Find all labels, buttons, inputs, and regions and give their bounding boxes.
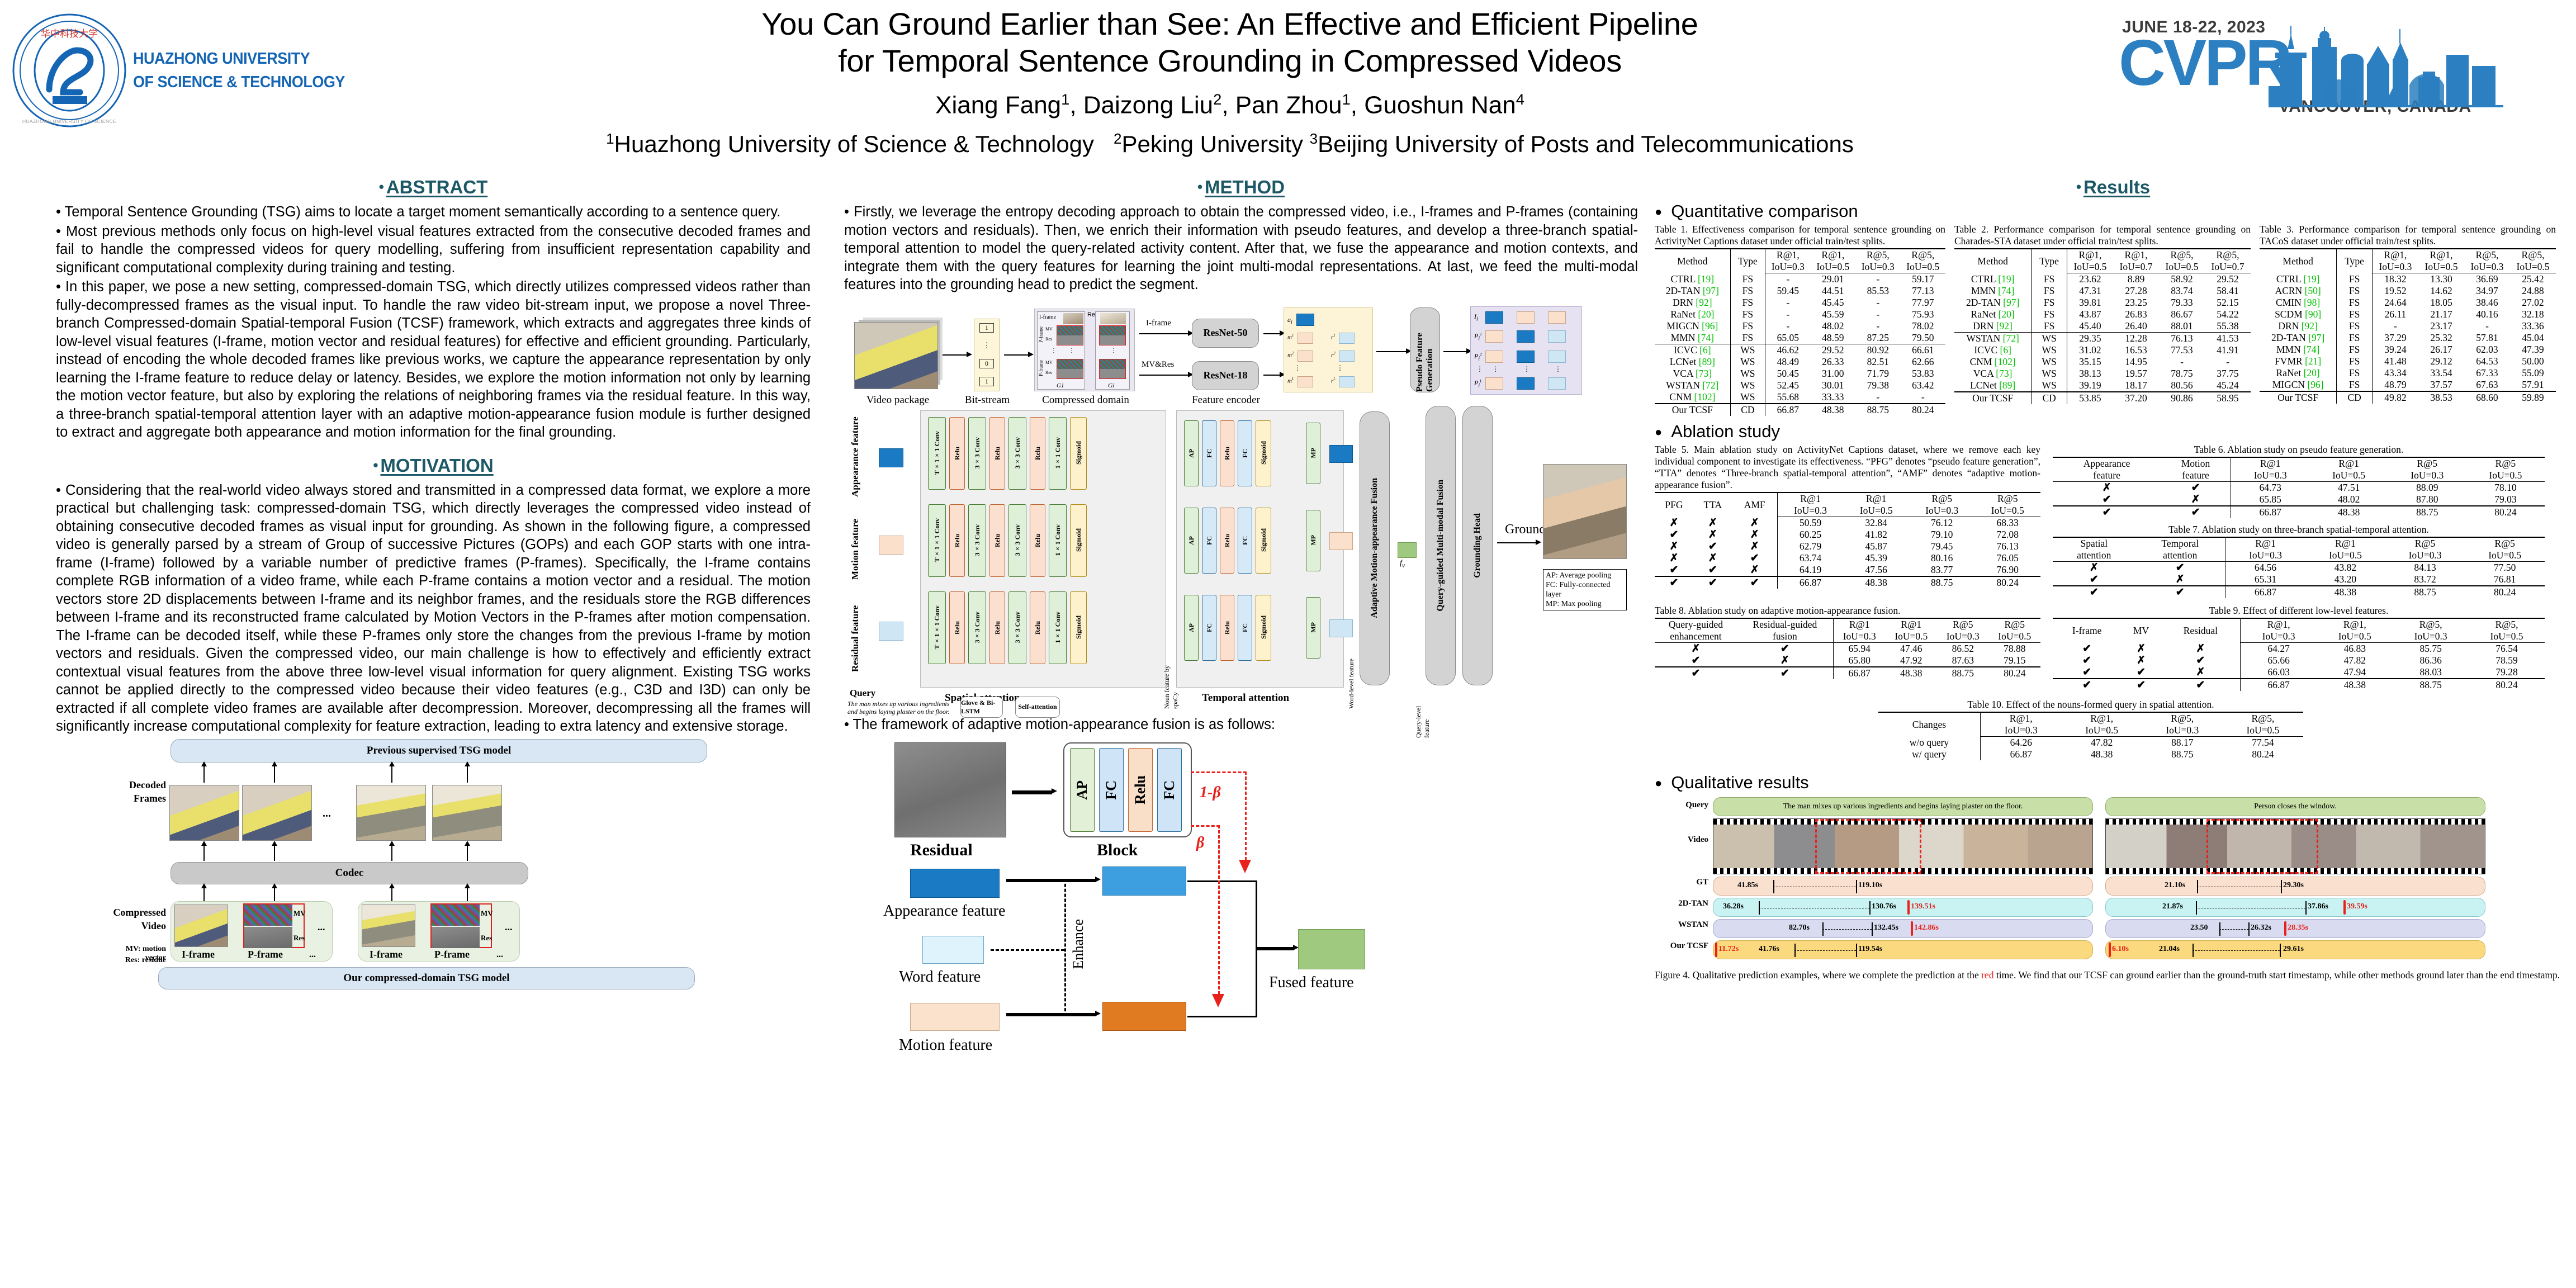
self-attention-box: Self-attention bbox=[1015, 697, 1060, 718]
cell-value: 38.53 bbox=[2418, 391, 2464, 404]
q2-wstan-red-time: 28.35s bbox=[2288, 924, 2308, 932]
cell-value: 59.17 bbox=[1901, 273, 1945, 286]
spatial-op-t-1-1-conv: T×1×1 Conv bbox=[928, 591, 946, 664]
table-subheader-row: enhancement fusion IoU=0.3 IoU=0.5 IoU=0… bbox=[1655, 631, 2040, 643]
table-row: ACRN [50]FS19.5214.6234.9724.88 bbox=[2260, 285, 2556, 297]
spatial-op-relu: Relu bbox=[989, 417, 1005, 490]
q1-tcsf-red-time: 11.72s bbox=[1718, 945, 1739, 954]
cell-value: 80.24 bbox=[2465, 586, 2545, 598]
table-row: CTRL [19]FS23.628.8958.9229.52 bbox=[1954, 273, 2251, 286]
cell-type: FS bbox=[2337, 332, 2373, 344]
cell-value: 62.03 bbox=[2464, 344, 2510, 356]
cell-value: 65.80 bbox=[1833, 655, 1885, 667]
op-label: Relu bbox=[993, 621, 1002, 634]
arrow-right bbox=[1012, 790, 1052, 794]
th-iou-3: IoU=0.3 bbox=[2142, 724, 2223, 737]
table-3-wrap: Table 3. Performance comparison for temp… bbox=[2260, 224, 2556, 404]
table-row: MIGCN [96]FS48.7937.5767.6357.91 bbox=[2260, 379, 2556, 391]
cell-type: WS bbox=[1730, 356, 1765, 368]
cell-value: 8.89 bbox=[2113, 273, 2159, 286]
fig-arrow-up bbox=[203, 888, 205, 901]
spatial-op-relu: Relu bbox=[949, 504, 965, 577]
q1-tcsf-tick-end bbox=[1856, 944, 1857, 957]
op-label: AP bbox=[1187, 449, 1196, 458]
grounding-head-label: Grounding Head bbox=[1472, 513, 1483, 578]
legend-box: AP: Average pooling FC: Fully-connected … bbox=[1543, 569, 1627, 610]
temporal-op-fc: FC bbox=[1202, 508, 1216, 574]
cell-method: 2D-TAN [97] bbox=[2260, 332, 2337, 344]
query-guided-fusion-label: Query-guided Multi-modal Fusion bbox=[1436, 480, 1446, 612]
table-row: CTRL [19]FS18.3213.3036.6925.42 bbox=[2260, 273, 2556, 286]
method-paragraph-2: • The framework of adaptive motion-appea… bbox=[844, 716, 1638, 734]
author-list: Xiang Fang1, Daizong Liu2, Pan Zhou1, Gu… bbox=[358, 83, 2102, 122]
table-2: Method Type R@1, R@1, R@5, R@5, IoU=0.5 … bbox=[1954, 248, 2251, 404]
arrow-right bbox=[1257, 947, 1294, 950]
check-mark-icon: ✔ bbox=[2053, 506, 2161, 518]
table-9-caption: Table 9. Effect of different low-level f… bbox=[2053, 605, 2545, 617]
cell-value: 46.83 bbox=[2317, 643, 2393, 655]
cell-value: 88.01 bbox=[2159, 320, 2205, 333]
cell-value: 79.03 bbox=[2466, 494, 2545, 506]
cell-value: 77.54 bbox=[2223, 737, 2303, 749]
cell-value: 36.69 bbox=[2464, 273, 2510, 286]
cell-type: FS bbox=[1730, 332, 1765, 344]
vertical-ellipsis: ⋮ bbox=[1555, 365, 1561, 373]
q-row-label-video: Video bbox=[1655, 835, 1708, 845]
cell-value: 57.91 bbox=[2510, 379, 2556, 391]
cell-value: 78.88 bbox=[1989, 643, 2041, 655]
cell-value: - bbox=[2372, 320, 2418, 332]
ablation-study-heading: Ablation study bbox=[1655, 422, 2572, 442]
temporal-op-mp: MP bbox=[1306, 423, 1320, 484]
th-type: Type bbox=[1730, 249, 1765, 273]
cell-value: 33.33 bbox=[1811, 391, 1855, 404]
rL-label: rL bbox=[1331, 377, 1336, 385]
q-row-label-query: Query bbox=[1655, 801, 1708, 810]
op-label: Relu bbox=[993, 447, 1002, 460]
table-6-caption: Table 6. Ablation study on pseudo featur… bbox=[2053, 444, 2545, 456]
appearance-input-cube bbox=[879, 448, 903, 467]
table-3-caption: Table 3. Performance comparison for temp… bbox=[2260, 224, 2556, 247]
th-iou-3: IoU=0.3 bbox=[2388, 470, 2466, 482]
cell-value: 76.13 bbox=[1974, 541, 2040, 552]
table-row: ✗✔✗62.7945.8779.4576.13 bbox=[1655, 541, 2040, 552]
th-residual-guided: Residual-guided bbox=[1737, 618, 1834, 631]
cell-value: 47.56 bbox=[1844, 564, 1909, 576]
table-10-caption: Table 10. Effect of the nouns-formed que… bbox=[1878, 699, 2303, 711]
cell-value: 37.20 bbox=[2113, 392, 2159, 404]
appearance-cube bbox=[1296, 314, 1314, 326]
fig-res-thumb bbox=[244, 927, 292, 948]
temporal-op-fc: FC bbox=[1238, 595, 1252, 661]
cvpr-logo: JUNE 18-22, 2023 CVPR VANCOUVER, CANADA bbox=[2118, 15, 2565, 126]
table-row: ✔✗✗60.2541.8279.1072.08 bbox=[1655, 529, 2040, 541]
cross-mark-icon: ✗ bbox=[1732, 564, 1777, 576]
check-mark-icon: ✔ bbox=[1655, 655, 1737, 667]
fig-iframe-thumb bbox=[362, 905, 415, 947]
cell-method: FVMR [21] bbox=[2260, 356, 2337, 367]
cell-value: 24.64 bbox=[2372, 297, 2418, 309]
column-right: •Results Quantitative comparison Table 1… bbox=[1655, 177, 2572, 982]
check-mark-icon: ✔ bbox=[1732, 576, 1777, 589]
appearance-feature-label: Appearance feature bbox=[883, 902, 1005, 920]
column-middle: •METHOD • Firstly, we leverage the entro… bbox=[844, 177, 1638, 1092]
table-header-row: Method Type R@1, R@1, R@5, R@5, bbox=[1954, 249, 2251, 261]
cross-mark-icon: ✗ bbox=[1737, 655, 1834, 667]
cell-method: SCDM [90] bbox=[2260, 309, 2337, 320]
cross-mark-icon: ✗ bbox=[1655, 552, 1693, 564]
cell-value: 47.51 bbox=[2310, 482, 2388, 494]
pframe-label: P-frame bbox=[1038, 326, 1044, 343]
cell-value: 26.17 bbox=[2418, 344, 2464, 356]
q2-video-strip bbox=[2105, 818, 2485, 874]
table-row: ✔✔66.8748.3888.7580.24 bbox=[1655, 667, 2040, 679]
check-mark-icon: ✔ bbox=[1737, 667, 1834, 679]
cell-value: 87.25 bbox=[1855, 332, 1900, 344]
fig-arrow-up bbox=[467, 845, 468, 861]
residual-feature-label: Residual feature bbox=[850, 599, 861, 678]
fig-arrow-up bbox=[467, 766, 468, 783]
table-row: WSTAN [72]WS29.3512.2876.1341.53 bbox=[1954, 333, 2251, 345]
th-iou-3: IoU=0.3 bbox=[2385, 550, 2465, 562]
fig-ellipsis: ... bbox=[323, 807, 331, 820]
table-row: RaNet [20]FS43.3433.5467.3355.09 bbox=[2260, 367, 2556, 379]
th-r1-b: R@1 bbox=[2310, 457, 2388, 470]
cross-mark-icon: ✗ bbox=[1732, 517, 1777, 529]
table-9-wrap: Table 9. Effect of different low-level f… bbox=[2053, 605, 2545, 691]
mv-thumb bbox=[1100, 326, 1125, 335]
adaptive-motion-appearance-fusion-box: Adaptive Motion-appearance Fusion bbox=[1360, 411, 1390, 685]
cell-method: ICVC [6] bbox=[1655, 344, 1730, 357]
op-label: FC bbox=[1205, 623, 1214, 632]
op-label: Relu bbox=[1223, 534, 1232, 547]
legend-mp: MP: Max pooling bbox=[1546, 599, 1624, 609]
th-r5-b: R@5 bbox=[2466, 457, 2545, 470]
table-row: ✗✗✔63.7445.3980.1676.05 bbox=[1655, 552, 2040, 564]
th-iou-2: IoU=0.5 bbox=[2310, 470, 2388, 482]
cell-value: 29.52 bbox=[1811, 344, 1855, 357]
cell-value: 78.75 bbox=[2159, 368, 2205, 380]
th-iou-2: IoU=0.5 bbox=[2418, 261, 2464, 273]
fig-decoded-frame-thumb bbox=[242, 785, 312, 841]
th-r5-a: R@5, bbox=[2393, 618, 2469, 631]
citation-ref: [90] bbox=[2305, 309, 2321, 320]
cell-value: 67.33 bbox=[2464, 367, 2510, 379]
citation-ref: [20] bbox=[1698, 309, 1714, 320]
cell-value: 50.45 bbox=[1765, 368, 1811, 380]
th-r5-a: R@5 bbox=[1937, 618, 1988, 631]
cell-value: 48.02 bbox=[2310, 494, 2388, 506]
fig-iframe-label: I-frame bbox=[182, 949, 215, 960]
iframe-thumb bbox=[1063, 313, 1083, 324]
cell-type: FS bbox=[2337, 379, 2373, 391]
table-row: ✔✔✔66.8748.3888.7580.24 bbox=[1655, 576, 2040, 589]
cell-value: 45.39 bbox=[1844, 552, 1909, 564]
op-label: Relu bbox=[1034, 534, 1042, 547]
fv-cube bbox=[1398, 542, 1417, 558]
check-mark-icon: ✔ bbox=[1732, 552, 1777, 564]
cell-method: ICVC [6] bbox=[1954, 344, 2032, 356]
cell-value: 75.93 bbox=[1901, 309, 1945, 320]
cell-value: 40.16 bbox=[2464, 309, 2510, 320]
op-label: 3×3 Conv bbox=[973, 437, 982, 468]
th-method: Method bbox=[1655, 249, 1730, 273]
arrow-right bbox=[1497, 542, 1536, 543]
th-temporal: Temporal bbox=[2135, 537, 2225, 550]
check-mark-icon: ✔ bbox=[2161, 506, 2231, 518]
th-iou-3: IoU=0.3 bbox=[2393, 631, 2469, 643]
th-r5-b: R@5, bbox=[1901, 249, 1945, 261]
gop-1: I-frame P-frame MV Res ⋮ ⋮ P-frame MV Re… bbox=[1037, 311, 1085, 390]
q2-gt-line bbox=[2197, 887, 2281, 887]
cell-value: 62.66 bbox=[1901, 356, 1945, 368]
q2-gt-end: 29.30s bbox=[2283, 881, 2304, 890]
cell-value: 78.10 bbox=[2466, 482, 2545, 494]
th-r5-a: R@5 bbox=[2385, 537, 2465, 550]
cell-value: - bbox=[1765, 309, 1811, 320]
glove-bilstm-box: Glove & Bi-LSTM bbox=[960, 697, 1003, 718]
cell-value: 66.87 bbox=[1980, 749, 2061, 760]
q2-2dtan-red-tick bbox=[2343, 900, 2346, 915]
cell-value: 86.36 bbox=[2393, 655, 2469, 666]
table-row: ✗✔64.7347.5188.0978.10 bbox=[2053, 482, 2545, 494]
iframe-thumb bbox=[1100, 313, 1126, 324]
cell-value: - bbox=[1855, 297, 1900, 309]
cell-value: 88.75 bbox=[2393, 679, 2469, 691]
fig-pframe-box: MV Res bbox=[430, 903, 492, 948]
svg-text:HUAZHONG UNIVERSITY OF SCIENCE: HUAZHONG UNIVERSITY OF SCIENCE bbox=[22, 119, 116, 124]
arrow-right bbox=[1376, 351, 1407, 352]
cell-value: 88.75 bbox=[1937, 667, 1988, 679]
q1-tcsf-start: 41.76s bbox=[1759, 945, 1779, 954]
cell-value: 48.49 bbox=[1765, 356, 1811, 368]
motion-cube bbox=[1548, 311, 1566, 324]
citation-ref: [89] bbox=[1699, 356, 1715, 367]
table-row: ✗✔65.9447.4686.5278.88 bbox=[1655, 643, 2040, 655]
cell-value: 50.00 bbox=[2510, 356, 2556, 367]
residual-cube bbox=[1339, 376, 1355, 387]
table-1-body: CTRL [19]FS-29.01-59.172D-TAN [97]FS59.4… bbox=[1655, 273, 1945, 416]
spatial-op-relu: Relu bbox=[1030, 504, 1045, 577]
cell-value: 88.75 bbox=[1909, 576, 1974, 589]
table-row: LCNet [89]WS48.4926.3382.5162.66 bbox=[1655, 356, 1945, 368]
cell-method: RaNet [20] bbox=[1655, 309, 1730, 320]
cell-value: 55.38 bbox=[2205, 320, 2251, 333]
ellipsis: ⋮ bbox=[983, 341, 991, 350]
q2-gt-tick-start bbox=[2197, 880, 2198, 893]
arrow-right bbox=[1139, 375, 1188, 376]
q2-wstan-line bbox=[2219, 929, 2248, 930]
th-iou-2: IoU=0.5 bbox=[1811, 261, 1855, 273]
th-r5-a: R@5, bbox=[2142, 712, 2223, 724]
q1-2dtan-tick-end bbox=[1869, 901, 1871, 915]
table-row: Our TCSFCD66.8748.3888.7580.24 bbox=[1655, 404, 1945, 416]
table-row: ✔✗65.8548.0287.8079.03 bbox=[2053, 494, 2545, 506]
residual-cube bbox=[1548, 377, 1566, 390]
cell-value: 76.05 bbox=[1974, 552, 2040, 564]
fig-decoded-frame-thumb bbox=[169, 785, 239, 841]
op-label: 3×3 Conv bbox=[973, 524, 982, 556]
q1-gt-start: 41.85s bbox=[1737, 881, 1758, 890]
cell-value: 45.40 bbox=[2067, 320, 2113, 333]
cell-value: 59.89 bbox=[2510, 391, 2556, 404]
grounding-result-thumb bbox=[1543, 464, 1627, 559]
cell-value: 78.59 bbox=[2469, 655, 2545, 666]
fig-res-label: Res bbox=[481, 934, 492, 943]
title-block: You Can Ground Earlier than See: An Effe… bbox=[358, 6, 2102, 159]
cell-value: 47.82 bbox=[2317, 655, 2393, 666]
fig-compressed-video-label2: Video bbox=[103, 920, 166, 932]
temporal-op-ap: AP bbox=[1184, 420, 1199, 486]
op-label: MP bbox=[1309, 622, 1318, 633]
cell-type: WS bbox=[2032, 356, 2067, 368]
temporal-attention-label: Temporal attention bbox=[1202, 692, 1289, 704]
th-attention-1: attention bbox=[2053, 550, 2135, 562]
beta-label: β bbox=[1196, 834, 1204, 852]
cell-method: VCA [73] bbox=[1954, 368, 2032, 380]
cell-value: 79.15 bbox=[1989, 655, 2041, 667]
citation-ref: [6] bbox=[2000, 344, 2011, 356]
motion-cube bbox=[1485, 330, 1503, 343]
cell-type: FS bbox=[2337, 309, 2373, 320]
figure-4-caption: Figure 4. Qualitative prediction example… bbox=[1655, 968, 2572, 982]
enhanced-motion-cube bbox=[1102, 1002, 1186, 1031]
table-header-row: Changes R@1, R@1, R@5, R@5, bbox=[1878, 712, 2303, 724]
cell-value: - bbox=[1765, 320, 1811, 332]
pseudo-feature-panel: Ii Pi1 Pi2 ⋮ ⋮ ⋮ ⋮ PiL bbox=[1470, 306, 1582, 395]
check-mark-icon: ✔ bbox=[1655, 667, 1737, 679]
feature-encoder-label: Feature encoder bbox=[1180, 394, 1272, 406]
th-iou-4: IoU=0.5 bbox=[2469, 631, 2545, 643]
cell-value: 64.73 bbox=[2231, 482, 2309, 494]
cell-value: 19.57 bbox=[2113, 368, 2159, 380]
cell-value: 87.80 bbox=[2388, 494, 2466, 506]
op-label: Relu bbox=[1034, 621, 1042, 634]
cell-value: 24.88 bbox=[2510, 285, 2556, 297]
th-iou-1: IoU=0.3 bbox=[1777, 505, 1843, 517]
cell-value: 66.87 bbox=[2240, 679, 2317, 691]
spatial-op-3-3-conv: 3×3 Conv bbox=[1008, 591, 1026, 664]
cell-value: 48.38 bbox=[1844, 576, 1909, 589]
q2-2dtan-end: 37.86s bbox=[2308, 902, 2328, 911]
block-ap-label: AP bbox=[1074, 780, 1091, 800]
beta-line-top bbox=[1191, 771, 1247, 773]
cell-value: 58.95 bbox=[2205, 392, 2251, 404]
iframe-label: I-frame bbox=[1039, 314, 1056, 320]
cell-value: 14.95 bbox=[2113, 356, 2159, 368]
cell-value: 65.05 bbox=[1765, 332, 1811, 344]
fig4-red-word: red bbox=[1981, 969, 1993, 981]
vertical-ellipsis: ⋮ bbox=[1337, 364, 1343, 372]
mL-label: mL bbox=[1287, 377, 1294, 385]
cell-value: 90.86 bbox=[2159, 392, 2205, 404]
cell-value: 37.75 bbox=[2205, 368, 2251, 380]
fig4-text-a: Figure 4. Qualitative prediction example… bbox=[1655, 969, 1981, 981]
cell-value: 71.79 bbox=[1855, 368, 1900, 380]
table-row: LCNet [89]WS39.1918.1780.5645.24 bbox=[1954, 380, 2251, 392]
citation-ref: [97] bbox=[2003, 297, 2019, 308]
op-label: Relu bbox=[1223, 447, 1232, 460]
q1-wstan-tick-end bbox=[1872, 922, 1873, 936]
spatial-op-3-3-conv: 3×3 Conv bbox=[968, 417, 986, 490]
bitstream-cell: 1 bbox=[979, 377, 994, 386]
cell-type: WS bbox=[2032, 368, 2067, 380]
fusion-block-box: AP FC Relu FC bbox=[1063, 742, 1192, 837]
q2-tcsf-red-time: 6.10s bbox=[2112, 945, 2129, 954]
abstract-heading: •ABSTRACT bbox=[56, 177, 811, 198]
cell-type: FS bbox=[2337, 285, 2373, 297]
q1-gt-bar bbox=[1713, 877, 2093, 896]
th-iou-4: IoU=0.5 bbox=[2223, 724, 2303, 737]
hust-seal-icon: 华中科技大学 HUAZHONG UNIVERSITY OF SCIENCE bbox=[10, 11, 129, 130]
op-label: T×1×1 Conv bbox=[933, 605, 941, 649]
spatial-op-1-1-conv: 1×1 Conv bbox=[1049, 504, 1067, 577]
cell-value: 32.18 bbox=[2510, 309, 2556, 320]
cell-value: 86.52 bbox=[1937, 643, 1988, 655]
cell-type: WS bbox=[2032, 380, 2067, 392]
check-mark-icon: ✔ bbox=[2053, 586, 2135, 598]
bullet-dot: • bbox=[2076, 178, 2081, 195]
op-label: Relu bbox=[953, 534, 962, 547]
th-iou-4: IoU=0.5 bbox=[1989, 631, 2041, 643]
op-label: 1×1 Conv bbox=[1054, 612, 1062, 643]
spatial-op-sigmoid: Sigmoid bbox=[1070, 417, 1087, 490]
cell-value: 77.53 bbox=[2159, 344, 2205, 356]
th-r5-b: R@5, bbox=[2510, 249, 2556, 261]
op-label: FC bbox=[1241, 449, 1249, 458]
cell-value: 58.92 bbox=[2159, 273, 2205, 286]
th-iou-4: IoU=0.5 bbox=[1901, 261, 1945, 273]
citation-ref: [96] bbox=[2307, 379, 2323, 390]
table-10-wrap: Table 10. Effect of the nouns-formed que… bbox=[1878, 699, 2303, 760]
table-header-row: I-frame MV Residual R@1, R@1, R@5, R@5, bbox=[2053, 618, 2545, 631]
cross-mark-icon: ✗ bbox=[1655, 517, 1693, 529]
cell-value: 41.82 bbox=[1844, 529, 1909, 541]
bullet-dot: • bbox=[373, 457, 378, 473]
q2-wstan-red-tick bbox=[2284, 921, 2286, 936]
fig-res-thumb bbox=[432, 927, 480, 948]
fig-arrow-up bbox=[467, 888, 468, 901]
table-row: ICVC [6]WS46.6229.5280.9266.61 bbox=[1655, 344, 1945, 357]
cell-value: 88.17 bbox=[2142, 737, 2223, 749]
th-iou-3: IoU=0.3 bbox=[1855, 261, 1900, 273]
cell-value: 34.97 bbox=[2464, 285, 2510, 297]
op-label: Sigmoid bbox=[1074, 528, 1083, 552]
cell-method: Our TCSF bbox=[1655, 404, 1730, 416]
table-header-row: Spatial Temporal R@1 R@1 R@5 R@5 bbox=[2053, 537, 2545, 550]
th-r1-b: R@1, bbox=[1811, 249, 1855, 261]
citation-ref: [72] bbox=[2003, 333, 2019, 344]
citation-ref: [72] bbox=[1702, 380, 1718, 391]
table-header-row: Method Type R@1, R@1, R@5, R@5, bbox=[1655, 249, 1945, 261]
bitstream-cell: 1 bbox=[979, 323, 994, 333]
th-type: Type bbox=[2337, 249, 2373, 273]
q1-tcsf-end: 119.54s bbox=[1858, 945, 1882, 954]
fv-label: fv bbox=[1400, 559, 1405, 569]
table-6: Appearance Motion R@1 R@1 R@5 R@5 featur… bbox=[2053, 457, 2545, 518]
motion-feature-label: Motion feature bbox=[899, 1036, 992, 1054]
cell-value: 86.67 bbox=[2159, 309, 2205, 320]
cell-value: 43.87 bbox=[2067, 309, 2113, 320]
table-8: Query-guided Residual-guided R@1 R@1 R@5… bbox=[1655, 618, 2040, 679]
table-9: I-frame MV Residual R@1, R@1, R@5, R@5, … bbox=[2053, 618, 2545, 691]
table-header-row: Appearance Motion R@1 R@1 R@5 R@5 bbox=[2053, 457, 2545, 470]
cell-value: 80.24 bbox=[2469, 679, 2545, 691]
th-type: Type bbox=[2032, 249, 2067, 273]
th-iou-4: IoU=0.7 bbox=[2205, 261, 2251, 273]
th-iou-3: IoU=0.3 bbox=[2464, 261, 2510, 273]
cell-value: 76.81 bbox=[2465, 574, 2545, 586]
